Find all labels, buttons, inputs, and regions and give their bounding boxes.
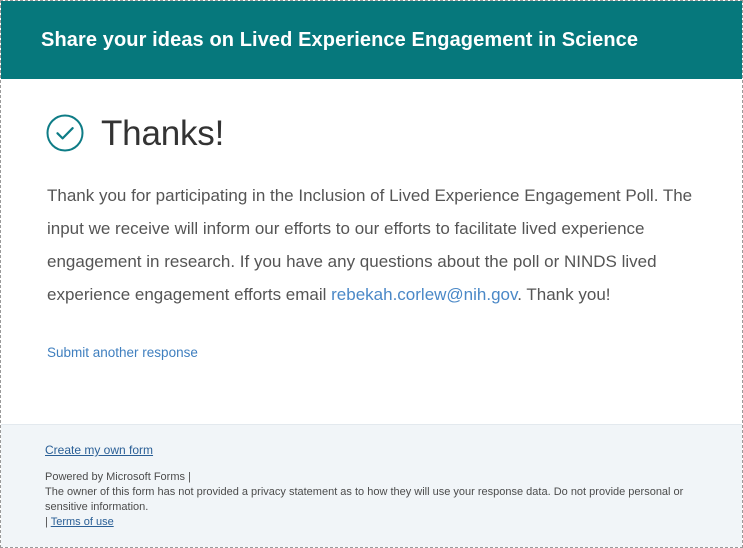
thanks-row: Thanks! <box>45 113 698 153</box>
check-circle-icon <box>45 113 85 153</box>
powered-by-text: Powered by Microsoft Forms | <box>45 470 698 485</box>
form-footer: Create my own form Powered by Microsoft … <box>1 424 742 547</box>
form-header-banner: Share your ideas on Lived Experience Eng… <box>1 1 742 79</box>
terms-of-use-line: | Terms of use <box>45 515 698 530</box>
confirmation-message-tail: . Thank you! <box>517 285 610 304</box>
form-body: Thanks! Thank you for participating in t… <box>1 79 742 424</box>
form-title: Share your ideas on Lived Experience Eng… <box>41 28 638 52</box>
terms-of-use-link[interactable]: Terms of use <box>51 516 114 528</box>
form-confirmation-page: Share your ideas on Lived Experience Eng… <box>0 0 743 548</box>
create-my-own-form-link[interactable]: Create my own form <box>45 443 153 457</box>
contact-email-link[interactable]: rebekah.corlew@nih.gov <box>331 285 517 304</box>
page-title: Thanks! <box>101 116 224 151</box>
confirmation-message: Thank you for participating in the Inclu… <box>47 179 698 311</box>
footer-legal-text: Powered by Microsoft Forms | The owner o… <box>45 470 698 530</box>
privacy-notice-text: The owner of this form has not provided … <box>45 485 698 515</box>
submit-another-response-link[interactable]: Submit another response <box>47 345 198 360</box>
